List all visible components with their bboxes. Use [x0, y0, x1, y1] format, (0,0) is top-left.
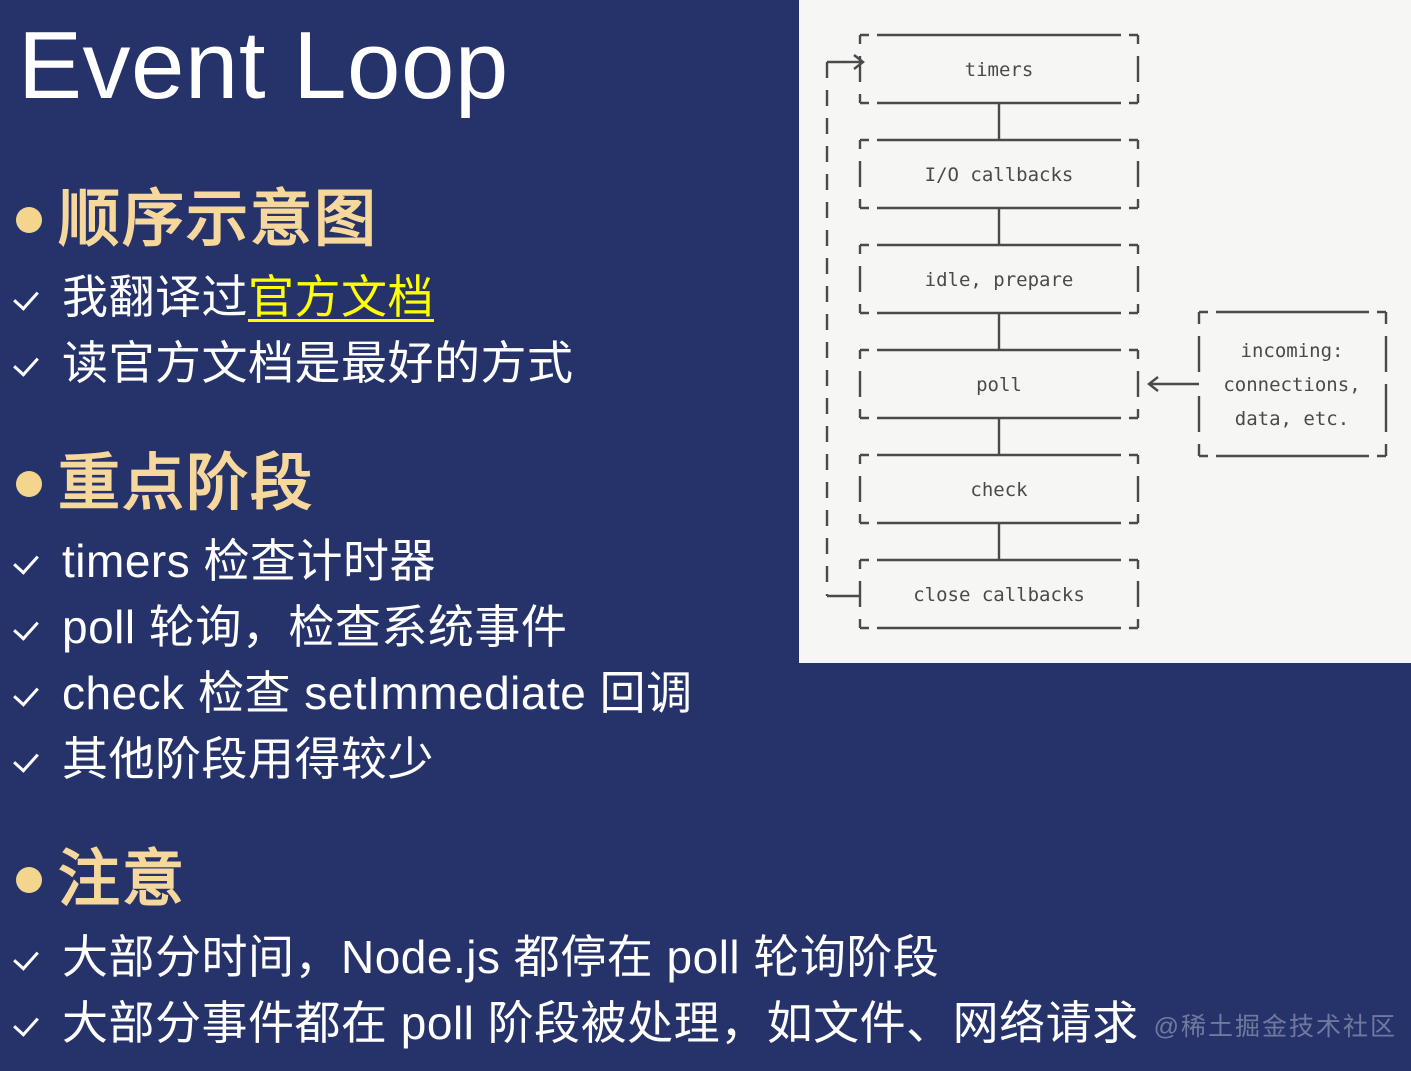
- list-item: 其他阶段用得较少: [0, 726, 693, 792]
- slide-root: timers I/O callbacks idle, prepare poll …: [0, 0, 1411, 1071]
- official-docs-link[interactable]: 官方文档: [248, 271, 434, 323]
- section-sequence: 顺序示意图 我翻译过官方文档 读官方文档是最好的方式: [0, 176, 574, 396]
- check-icon: [14, 742, 48, 776]
- list-item-label: poll 轮询，检查系统事件: [62, 604, 567, 650]
- list-item: 读官方文档是最好的方式: [0, 330, 574, 396]
- list-item-text: 我翻译过: [62, 271, 248, 323]
- list-item: 大部分事件都在 poll 阶段被处理，如文件、网络请求: [0, 990, 1139, 1056]
- section-notes: 注意 大部分时间，Node.js 都停在 poll 轮询阶段 大部分事件都在 p…: [0, 836, 1139, 1056]
- check-icon: [14, 610, 48, 644]
- section-heading-row-key-phases: 重点阶段: [0, 440, 693, 528]
- list-item: poll 轮询，检查系统事件: [0, 594, 693, 660]
- check-icon: [14, 940, 48, 974]
- check-icon: [14, 346, 48, 380]
- check-icon: [14, 544, 48, 578]
- list-item-label: 其他阶段用得较少: [62, 736, 434, 782]
- section-heading-row-notes: 注意: [0, 836, 1139, 924]
- section-key-phases: 重点阶段 timers 检查计时器 poll 轮询，检查系统事件 check 检…: [0, 440, 693, 792]
- list-item-label: timers 检查计时器: [62, 538, 436, 584]
- bullet-dot-icon: [16, 207, 42, 233]
- list-item-label: 读官方文档是最好的方式: [62, 340, 574, 386]
- list-item: check 检查 setImmediate 回调: [0, 660, 693, 726]
- check-icon: [14, 280, 48, 314]
- page-title: Event Loop: [18, 12, 509, 120]
- section-heading-row-sequence: 顺序示意图: [0, 176, 574, 264]
- check-icon: [14, 676, 48, 710]
- slide-content: Event Loop 顺序示意图 我翻译过官方文档 读官方文档是最好的方式 重点…: [0, 0, 1411, 1071]
- section-heading-sequence: 顺序示意图: [58, 189, 378, 251]
- list-item: timers 检查计时器: [0, 528, 693, 594]
- list-item: 我翻译过官方文档: [0, 264, 574, 330]
- list-item-label: check 检查 setImmediate 回调: [62, 670, 693, 716]
- list-item: 大部分时间，Node.js 都停在 poll 轮询阶段: [0, 924, 1139, 990]
- bullet-dot-icon: [16, 471, 42, 497]
- bullet-dot-icon: [16, 867, 42, 893]
- list-item-label: 我翻译过官方文档: [62, 274, 434, 320]
- section-heading-notes: 注意: [58, 849, 186, 911]
- list-item-label: 大部分事件都在 poll 阶段被处理，如文件、网络请求: [62, 1000, 1139, 1046]
- section-heading-key-phases: 重点阶段: [58, 453, 314, 515]
- check-icon: [14, 1006, 48, 1040]
- list-item-label: 大部分时间，Node.js 都停在 poll 轮询阶段: [62, 934, 939, 980]
